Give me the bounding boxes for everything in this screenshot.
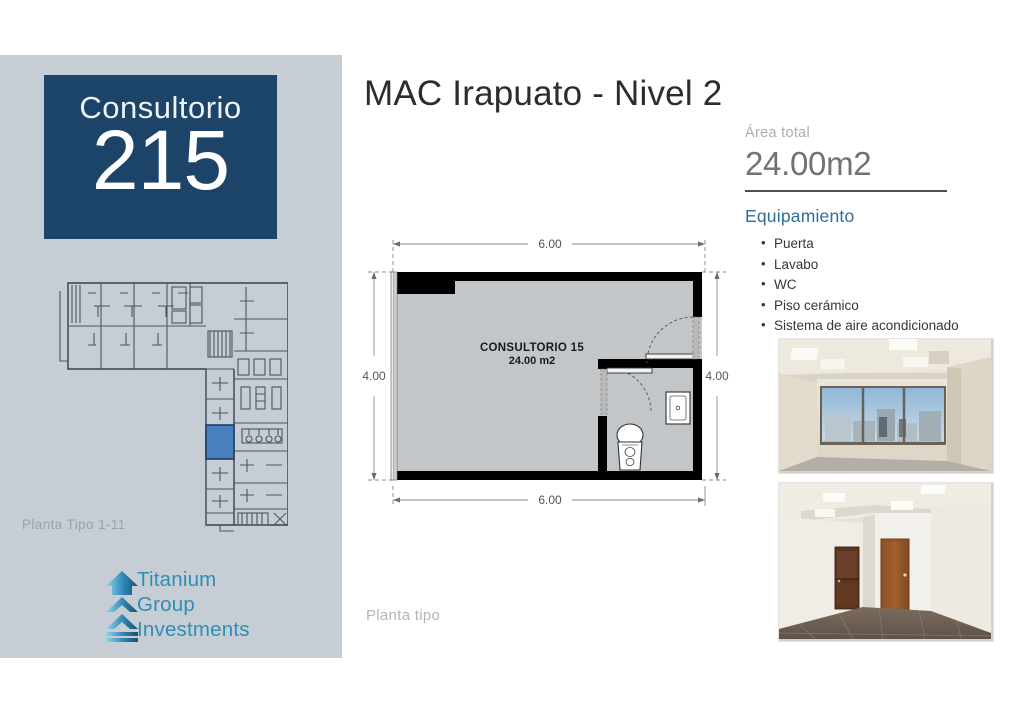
logo-text: Titanium Group Investments — [137, 567, 250, 642]
siteplan — [38, 273, 288, 535]
siteplan-highlight-unit — [206, 425, 234, 459]
area-total-value: 24.00m2 — [745, 143, 1007, 184]
plan-room-area: 24.00 m2 — [509, 355, 555, 367]
equipment-list: Puerta Lavabo WC Piso cerámico Sistema d… — [745, 234, 1007, 337]
siteplan-caption: Planta Tipo 1-11 — [22, 517, 126, 532]
toilet-fixture — [617, 424, 643, 470]
dim-bottom: 6.00 — [538, 493, 562, 507]
info-panel: Área total 24.00m2 Equipamiento Puerta L… — [745, 126, 1007, 337]
equipment-item: Lavabo — [761, 255, 1007, 276]
equipment-item: WC — [761, 275, 1007, 296]
equipment-item: Piso cerámico — [761, 296, 1007, 317]
window-glazing — [391, 272, 397, 480]
logo-line-2: Group — [137, 592, 250, 617]
plan-caption: Planta tipo — [366, 607, 440, 624]
left-panel: Consultorio 215 — [0, 55, 342, 658]
sink-fixture — [666, 392, 690, 424]
logo-line-1: Titanium — [137, 567, 250, 592]
info-divider — [745, 190, 947, 192]
logo-line-3: Investments — [137, 617, 250, 642]
room-fill — [396, 272, 702, 480]
floor-plan: 6.00 6.00 4.00 4.00 — [360, 228, 730, 528]
equipment-item: Puerta — [761, 234, 1007, 255]
page-title: MAC Irapuato - Nivel 2 — [364, 74, 722, 114]
equipment-item: Sistema de aire acondicionado — [761, 316, 1007, 337]
dim-left: 4.00 — [362, 369, 386, 383]
logo: Titanium Group Investments — [103, 567, 283, 645]
titanium-chevron-icon — [103, 569, 141, 643]
dim-top: 6.00 — [538, 237, 562, 251]
area-total-label: Área total — [745, 126, 1007, 142]
photo-office-window — [778, 338, 994, 474]
floor-plan-drawing: 6.00 6.00 4.00 4.00 — [360, 228, 730, 528]
dim-right: 4.00 — [705, 369, 729, 383]
plan-room-label: CONSULTORIO 15 — [480, 342, 584, 354]
unit-card-number: 215 — [44, 121, 277, 201]
siteplan-drawing — [38, 273, 288, 535]
photo-office-doors — [778, 482, 994, 642]
equipment-heading: Equipamiento — [745, 206, 1007, 227]
unit-card: Consultorio 215 — [44, 75, 277, 239]
